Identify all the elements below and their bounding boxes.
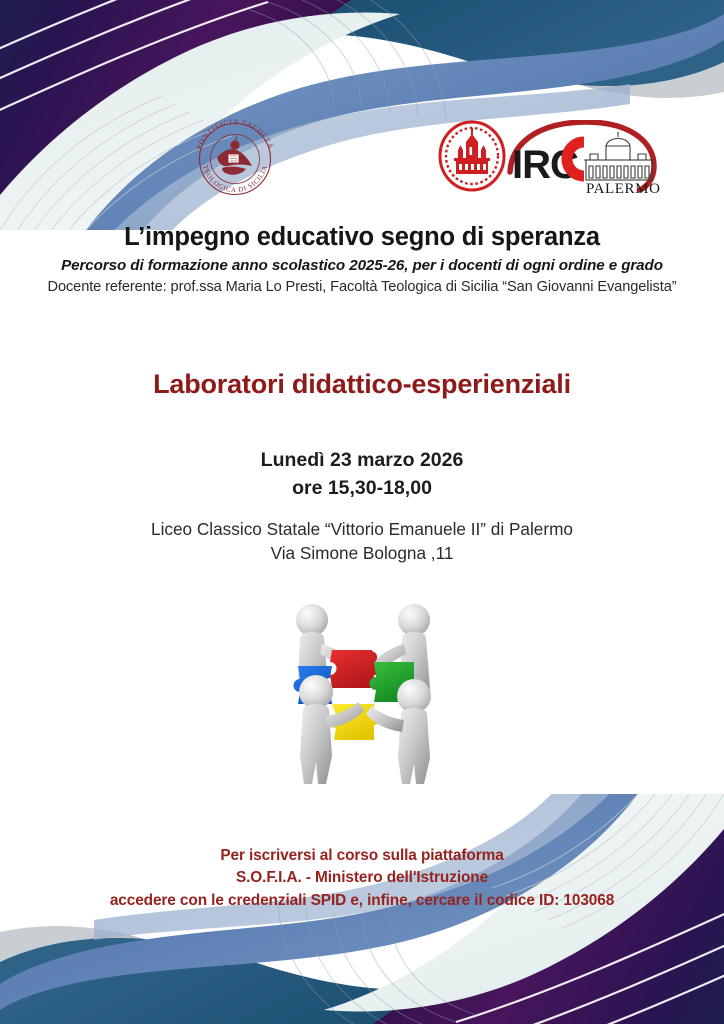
teamwork-puzzle-illustration-icon — [274, 596, 454, 786]
page-subtitle: Percorso di formazione anno scolastico 2… — [0, 257, 724, 275]
palermo-text: PALERMO — [586, 181, 660, 197]
event-venue: Liceo Classico Statale “Vittorio Emanuel… — [0, 517, 724, 541]
event-date: Lunedì 23 marzo 2026 — [0, 447, 724, 475]
enroll-line-3: accedere con le credenziali SPID e, infi… — [0, 890, 724, 912]
page-title: L’impegno educativo segno di speranza — [0, 222, 724, 252]
enrollment-instructions: Per iscriversi al corso sulla piattaform… — [0, 845, 724, 912]
pontificia-facolta-seal-icon: PONTIFICIA FACOLTÀ TEOLOGICA DI SICILIA — [192, 114, 278, 200]
irc-palermo-logo-icon: IRC PALERMO — [434, 120, 660, 198]
event-datetime-block: Lunedì 23 marzo 2026 ore 15,30-18,00 — [0, 447, 724, 502]
event-time: ore 15,30-18,00 — [0, 475, 724, 503]
event-address: Via Simone Bologna ,11 — [0, 541, 724, 565]
enroll-line-2: S.O.F.I.A. - Ministero dell'Istruzione — [0, 867, 724, 889]
event-location-block: Liceo Classico Statale “Vittorio Emanuel… — [0, 517, 724, 566]
enroll-line-1: Per iscriversi al corso sulla piattaform… — [0, 845, 724, 867]
teacher-reference-line: Docente referente: prof.ssa Maria Lo Pre… — [0, 279, 724, 297]
title-block: L’impegno educativo segno di speranza Pe… — [0, 222, 724, 297]
section-heading: Laboratori didattico-esperienziali — [0, 369, 724, 400]
poster-page: PONTIFICIA FACOLTÀ TEOLOGICA DI SICILIA — [0, 0, 724, 1024]
logo-row: PONTIFICIA FACOLTÀ TEOLOGICA DI SICILIA — [0, 112, 724, 200]
